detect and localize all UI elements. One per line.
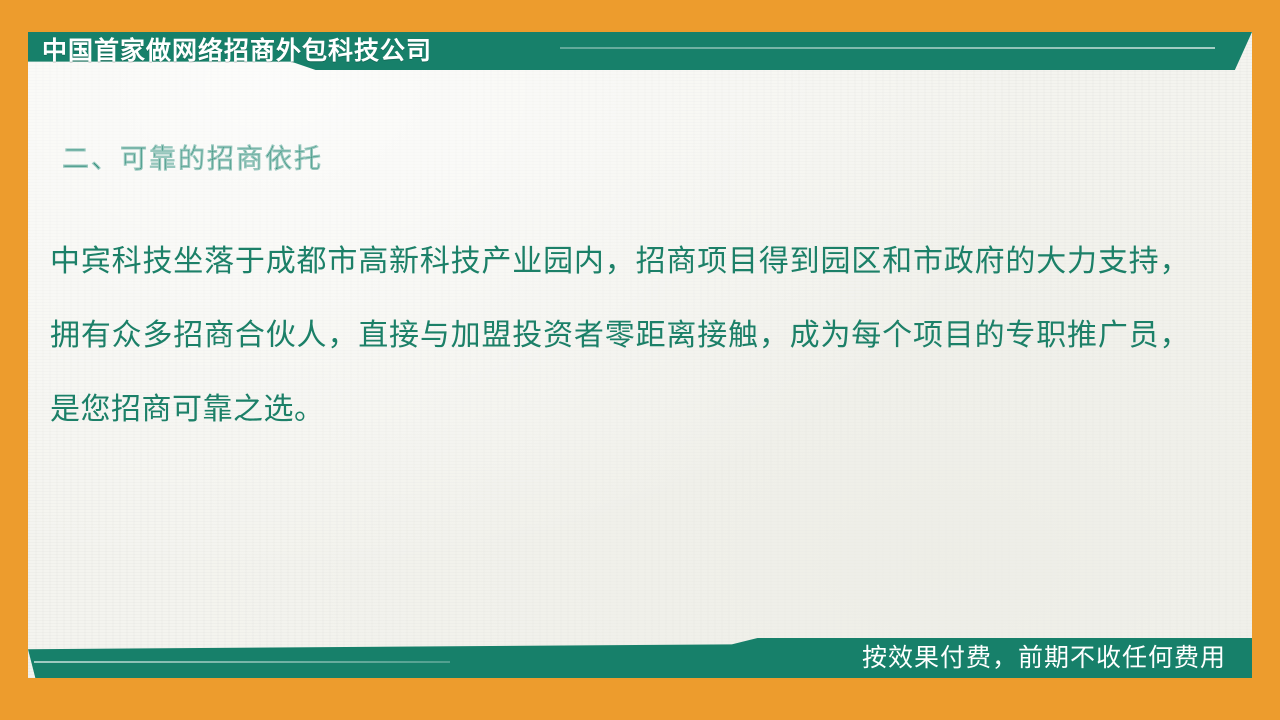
header-divider-line bbox=[560, 47, 1215, 49]
frame-right-border bbox=[1252, 0, 1280, 720]
frame-top-border bbox=[0, 0, 1280, 32]
footer-banner: 按效果付费，前期不收任何费用 bbox=[28, 638, 1252, 678]
slide: 中国首家做网络招商外包科技公司 二、可靠的招商依托 中宾科技坐落于成都市高新科技… bbox=[0, 0, 1280, 720]
footer-divider-line bbox=[34, 661, 450, 663]
header-title: 中国首家做网络招商外包科技公司 bbox=[42, 33, 432, 69]
header-banner: 中国首家做网络招商外包科技公司 bbox=[28, 32, 1252, 70]
frame-bottom-border bbox=[0, 678, 1280, 720]
frame-left-border bbox=[0, 0, 28, 720]
footer-tagline: 按效果付费，前期不收任何费用 bbox=[862, 641, 1226, 675]
body-text-block: 中宾科技坐落于成都市高新科技产业园内，招商项目得到园区和市政府的大力支持，拥有众… bbox=[50, 225, 1190, 447]
body-paragraph: 中宾科技坐落于成都市高新科技产业园内，招商项目得到园区和市政府的大力支持，拥有众… bbox=[50, 225, 1190, 447]
section-heading: 二、可靠的招商依托 bbox=[62, 137, 323, 176]
